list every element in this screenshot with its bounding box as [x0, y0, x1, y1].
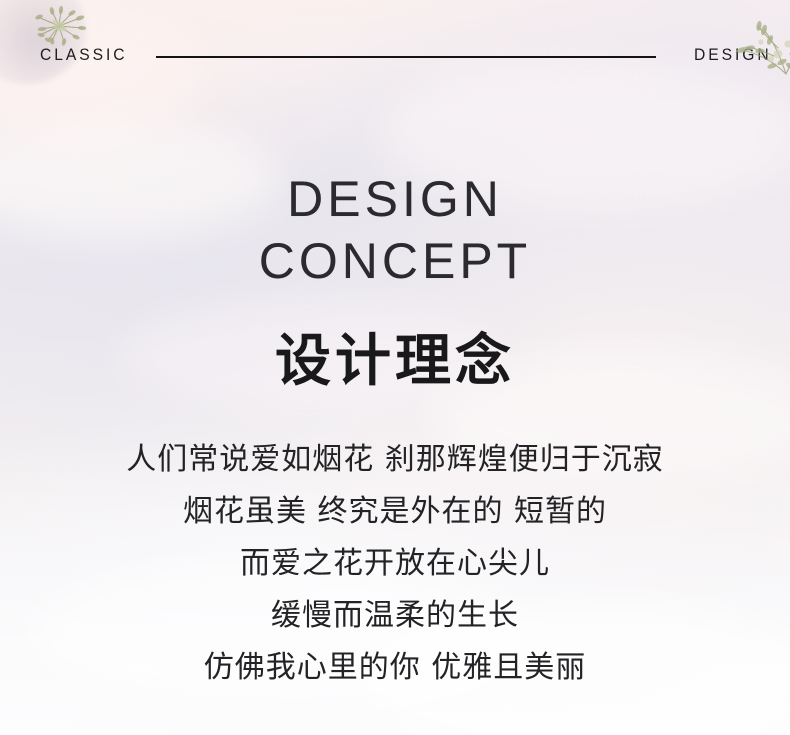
body-line: 人们常说爱如烟花 刹那辉煌便归于沉寂: [0, 434, 790, 486]
design-concept-page: CLASSIC DESIGN: [0, 0, 790, 735]
page-title-cn: 设计理念: [0, 328, 790, 396]
body-line: 而爱之花开放在心尖儿: [0, 538, 790, 590]
page-title-en-line-2: CONCEPT: [0, 230, 790, 292]
page-title-en-line-1: DESIGN: [0, 168, 790, 230]
page-title-en: DESIGN CONCEPT: [0, 168, 790, 292]
body-line: 缓慢而温柔的生长: [0, 590, 790, 642]
body-line: 烟花虽美 终究是外在的 短暂的: [0, 486, 790, 538]
body-line: 仿佛我心里的你 优雅且美丽: [0, 642, 790, 694]
body-copy: 人们常说爱如烟花 刹那辉煌便归于沉寂 烟花虽美 终究是外在的 短暂的 而爱之花开…: [0, 434, 790, 694]
main-content: DESIGN CONCEPT 设计理念 人们常说爱如烟花 刹那辉煌便归于沉寂 烟…: [0, 0, 790, 735]
